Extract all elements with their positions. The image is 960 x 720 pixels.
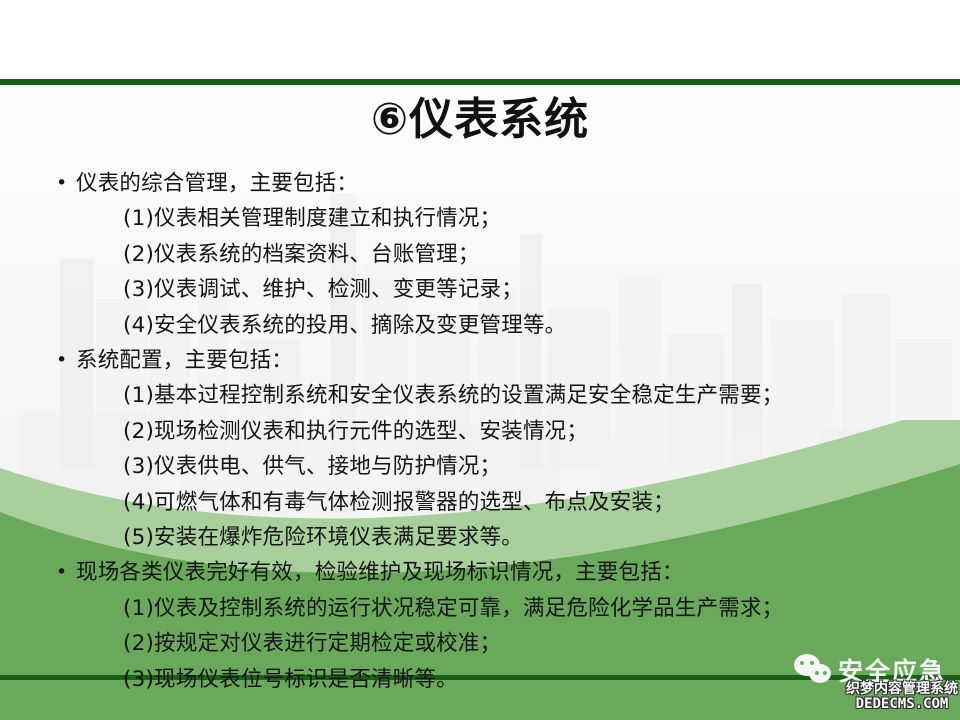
bullet-glyph: • [56,343,67,378]
wechat-bubble-small [809,664,831,683]
site-watermark: 织梦内容管理系统 DEDECMS.COM [846,682,958,711]
wechat-eye-dot [800,661,804,665]
wechat-eye-dot [823,671,827,675]
bullet-heading: • 系统配置，主要包括： [52,343,932,378]
sub-item: (2)现场检测仪表和执行元件的选型、安装情况； [52,414,932,449]
slide-body: • 仪表的综合管理，主要包括： (1)仪表相关管理制度建立和执行情况； (2)仪… [52,166,932,697]
sub-item: (3)仪表调试、维护、检测、变更等记录； [52,272,932,307]
bullet-heading-text: 仪表的综合管理，主要包括： [76,171,358,196]
wechat-eye-dot [815,671,819,675]
wechat-icon [794,654,834,690]
sub-item: (3)仪表供电、供气、接地与防护情况； [52,449,932,484]
sub-item: (1)仪表及控制系统的运行状况稳定可靠，满足危险化学品生产需求； [52,591,932,626]
sub-item: (1)仪表相关管理制度建立和执行情况； [52,201,932,236]
bullet-heading: • 现场各类仪表完好有效，检验维护及现场标识情况，主要包括： [52,555,932,590]
watermark-chinese: 织梦内容管理系统 [846,682,958,697]
sub-item: (1)基本过程控制系统和安全仪表系统的设置满足安全稳定生产需要； [52,378,932,413]
bullet-glyph: • [56,555,67,590]
bullet-heading: • 仪表的综合管理，主要包括： [52,166,932,201]
top-accent-rule [0,79,960,85]
presentation-slide: ⑥仪表系统 • 仪表的综合管理，主要包括： (1)仪表相关管理制度建立和执行情况… [0,0,960,720]
bullet-heading-text: 系统配置，主要包括： [76,348,293,373]
sub-item: (2)仪表系统的档案资料、台账管理； [52,237,932,272]
bullet-heading-text: 现场各类仪表完好有效，检验维护及现场标识情况，主要包括： [76,560,684,585]
watermark-english: DEDECMS.COM [846,697,958,712]
bullet-glyph: • [56,166,67,201]
page-title: ⑥仪表系统 [0,96,960,144]
sub-item: (5)安装在爆炸危险环境仪表满足要求等。 [52,520,932,555]
sub-item: (4)可燃气体和有毒气体检测报警器的选型、布点及安装； [52,485,932,520]
sub-item: (4)安全仪表系统的投用、摘除及变更管理等。 [52,308,932,343]
